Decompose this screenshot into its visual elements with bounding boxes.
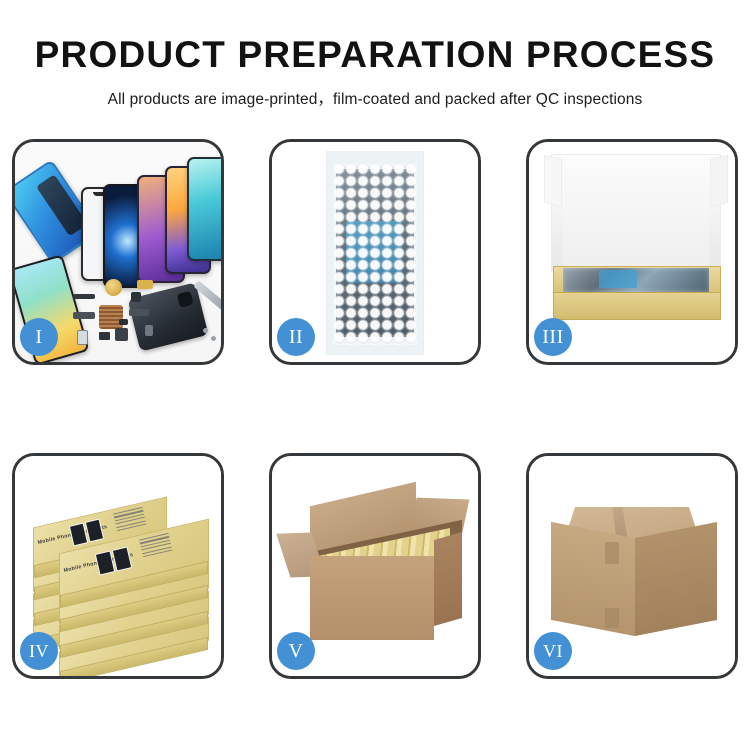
small-component-1 xyxy=(99,332,110,340)
phone-display-teal xyxy=(187,157,221,261)
small-component-2 xyxy=(115,328,128,341)
screw-part-2 xyxy=(211,336,216,341)
step-badge-2: II xyxy=(277,318,315,356)
screw-part-1 xyxy=(203,328,208,333)
speaker-coil-part xyxy=(105,279,122,296)
flex-cable-grey-1 xyxy=(73,312,95,319)
carton-tab-upper xyxy=(605,542,619,564)
page-header: PRODUCT PREPARATION PROCESS All products… xyxy=(0,0,750,109)
retail-box-stack: Mobile Phone Spare Parts Mobile Phone Sp… xyxy=(23,474,219,664)
step-badge-4: IV xyxy=(20,632,58,670)
carton-left-face xyxy=(551,522,635,636)
process-step-2[interactable]: II xyxy=(269,139,481,365)
step-badge-6: VI xyxy=(534,632,572,670)
process-step-5[interactable]: V xyxy=(269,453,481,679)
process-row-2: Mobile Phone Spare Parts Mobile Phone Sp… xyxy=(12,453,738,679)
process-step-4[interactable]: Mobile Phone Spare Parts Mobile Phone Sp… xyxy=(12,453,224,679)
carton-right-face xyxy=(434,532,462,626)
process-step-1[interactable]: I xyxy=(12,139,224,365)
carton-tab-lower xyxy=(605,608,619,628)
chip-grid-part xyxy=(99,305,123,329)
process-row-1: I II xyxy=(12,139,738,365)
process-step-6[interactable]: VI xyxy=(526,453,738,679)
camera-module-part xyxy=(131,292,141,302)
page-subtitle: All products are image-printed，film-coat… xyxy=(0,75,750,109)
flex-cable-grey-2 xyxy=(129,309,149,316)
process-step-3[interactable]: III xyxy=(526,139,738,365)
battery-part-icon xyxy=(73,294,95,299)
page-title: PRODUCT PREPARATION PROCESS xyxy=(0,0,750,75)
step-badge-3: III xyxy=(534,318,572,356)
small-component-3 xyxy=(119,319,128,325)
open-shipping-carton xyxy=(288,490,462,642)
carton-front-face xyxy=(310,556,434,640)
bubble-texture-front xyxy=(333,163,417,345)
process-step-grid: I II xyxy=(12,139,738,679)
inner-box-front xyxy=(553,292,721,320)
flex-cable-gold xyxy=(137,280,153,289)
step-badge-5: V xyxy=(277,632,315,670)
product-preparation-page: PRODUCT PREPARATION PROCESS All products… xyxy=(0,0,750,750)
bubble-wrap-bag xyxy=(326,151,424,355)
sealed-shipping-carton xyxy=(547,482,719,646)
step-badge-1: I xyxy=(20,318,58,356)
inner-box-cavity xyxy=(563,174,709,270)
small-component-4 xyxy=(145,325,153,336)
sim-tray-part xyxy=(77,330,88,345)
carton-right-face-sealed xyxy=(635,522,717,636)
packed-units xyxy=(563,268,709,292)
